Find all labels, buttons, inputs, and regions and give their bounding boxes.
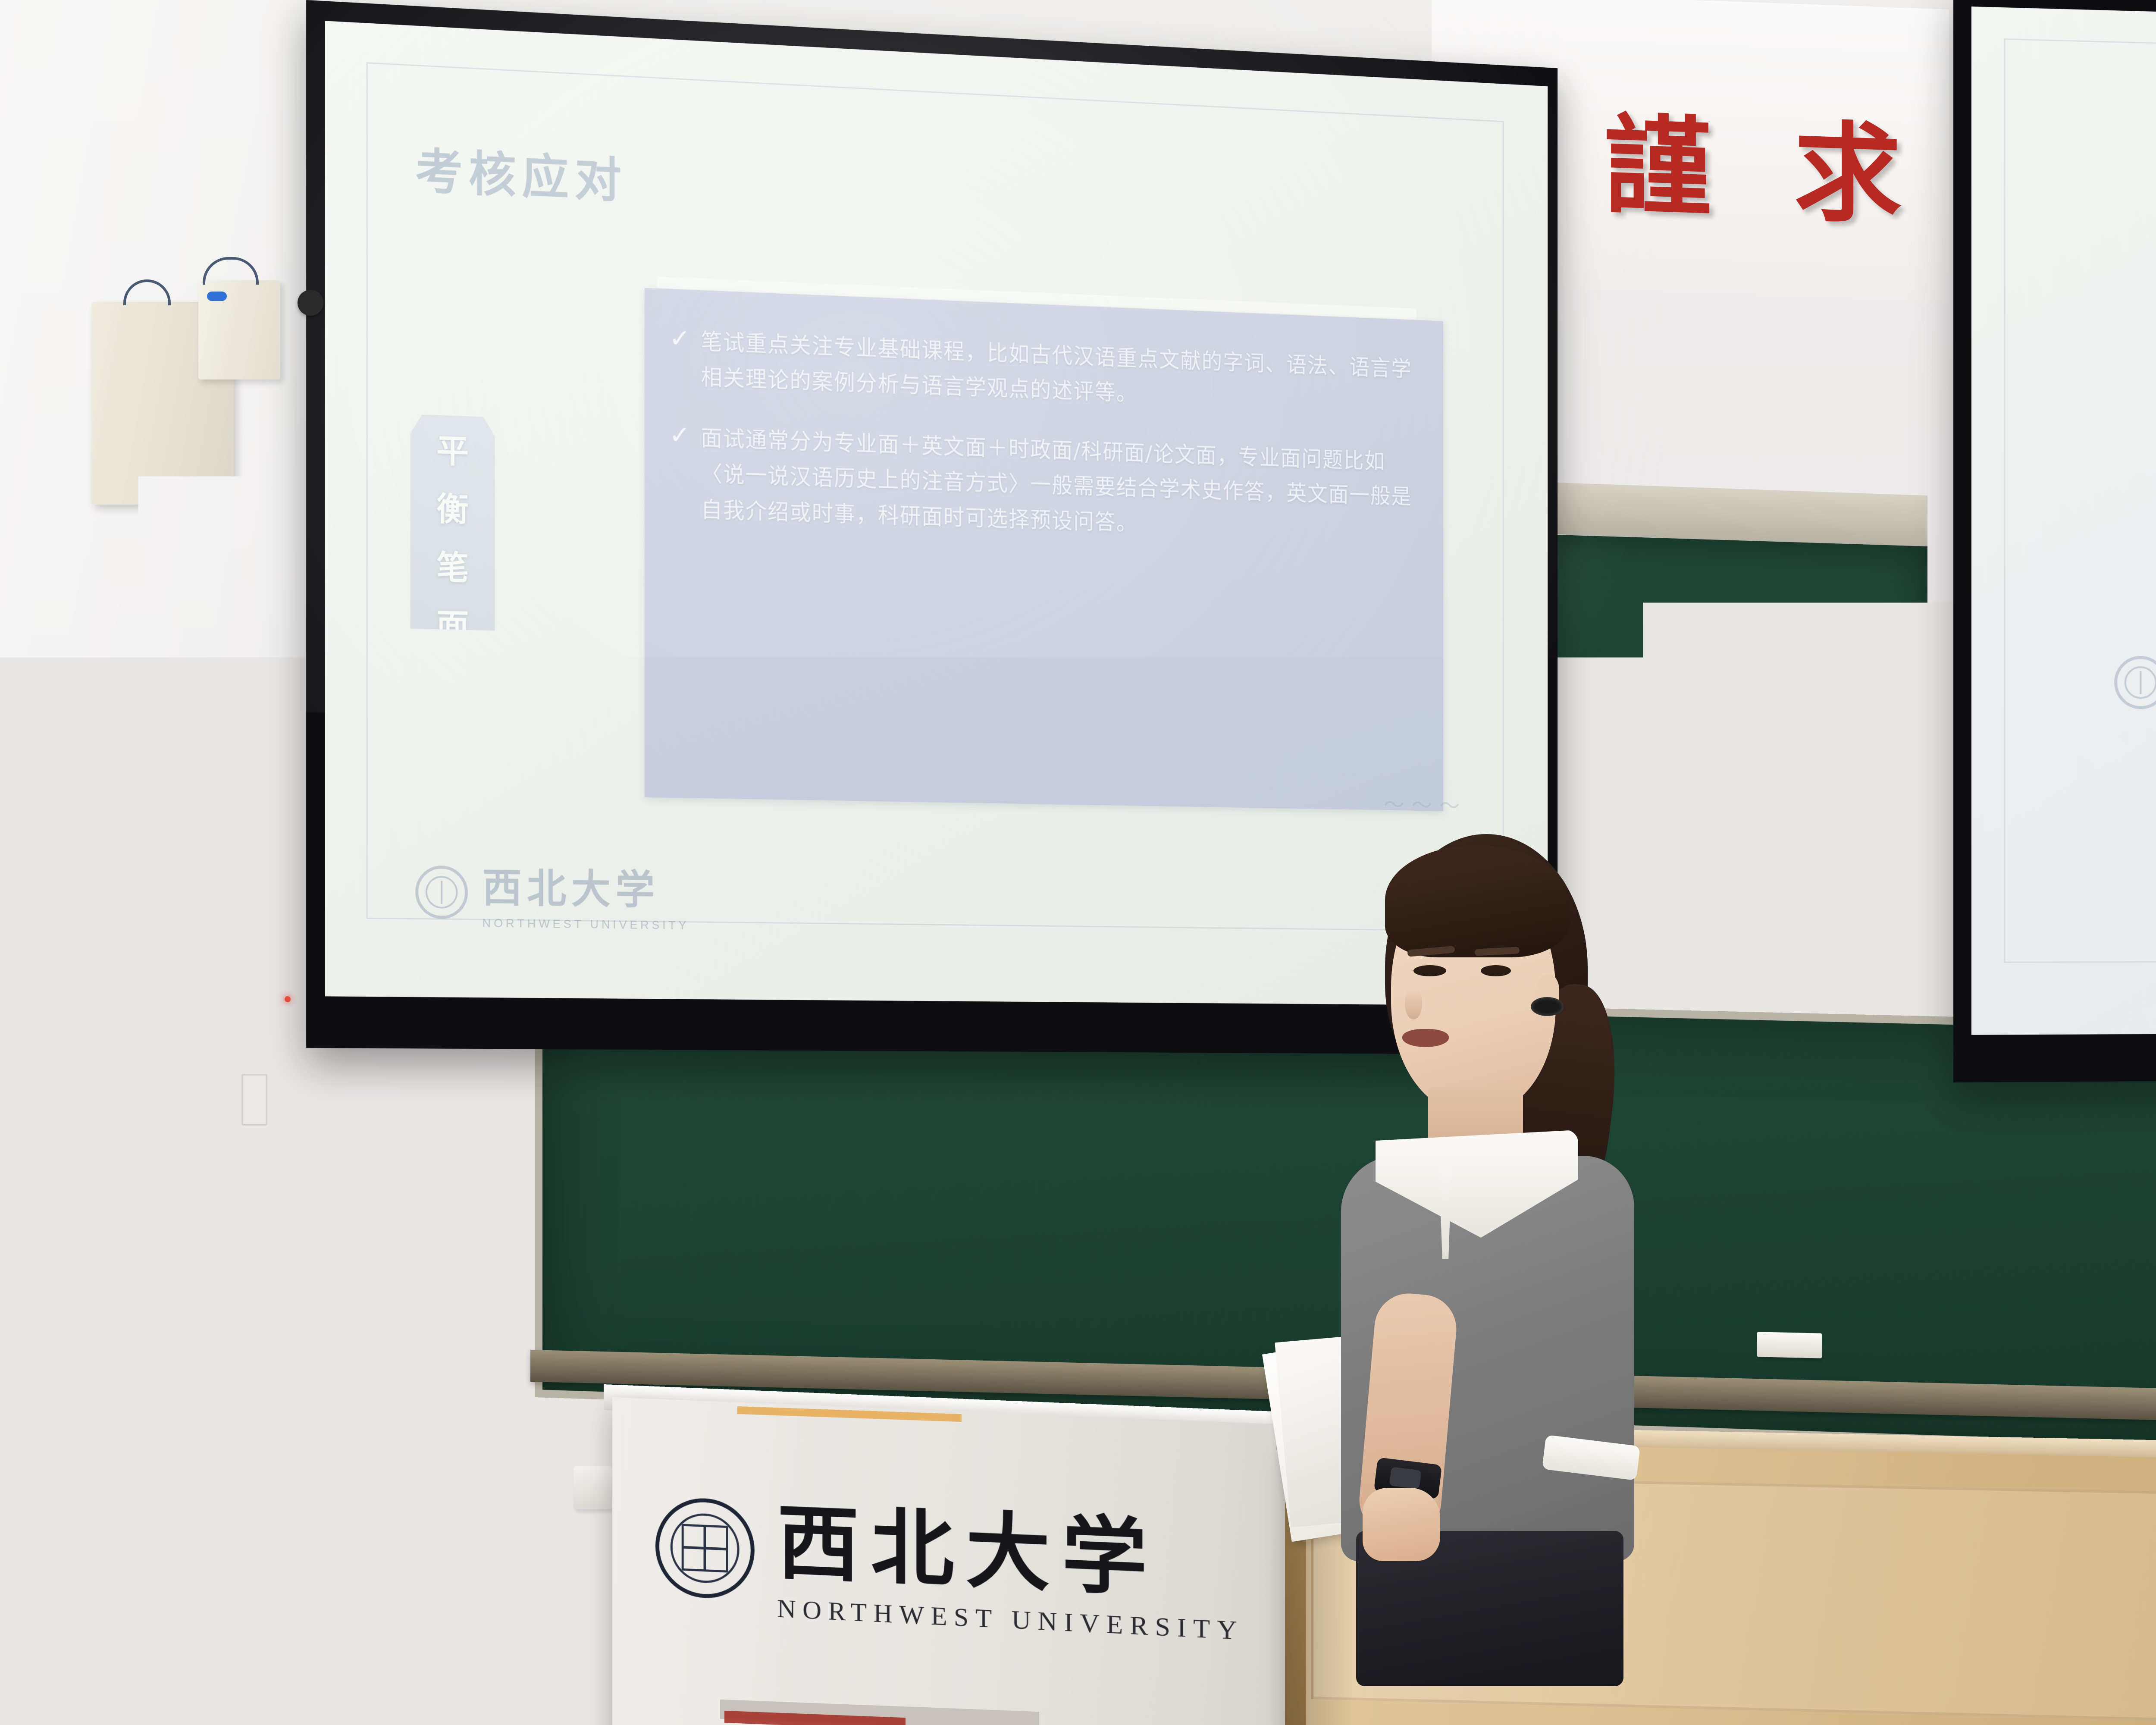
indicator-led-icon [285,996,291,1002]
hair-tie [1531,997,1564,1016]
motto-char-3: 求 [1794,118,1902,229]
status-led-icon [207,292,227,301]
slide-bullet-text: 面试通常分为专业面＋英文面＋时政面/科研面/论文面，专业面问题比如〈说一说汉语历… [701,420,1416,549]
power-outlet[interactable] [241,1074,267,1126]
baseboard [0,1626,604,1643]
slide-bullet: ✓ 笔试重点关注专业基础课程，比如古代汉语重点文献的字词、语法、语言学相关理论的… [669,323,1416,421]
lecture-hall-scene: 亜 謹 求 考核应对 平 衡 笔 面 ✓ 笔试重点关注专业基础课程，比如古代汉语… [0,0,2156,1725]
slide-bullet: ✓ 面试通常分为专业面＋英文面＋时政面/科研面/论文面，专业面问题比如〈说一说汉… [669,420,1416,549]
projection-screen-right: 平 衡 笔 面 西北大学 NORTHWEST UNIVERSITY [1971,6,2156,1035]
seal-cross-horizontal [682,1546,728,1551]
slide-university-logo: 西北大学 NORTHWEST UNIVERSITY [415,854,689,932]
eye-right [1481,965,1511,976]
university-seal-icon [655,1496,755,1600]
university-seal-icon [415,865,468,919]
eye-left [1413,965,1446,976]
slide-content-card: ✓ 笔试重点关注专业基础课程，比如古代汉语重点文献的字词、语法、语言学相关理论的… [644,288,1443,811]
seal-cross-vertical [704,1525,706,1572]
projection-screen-right-frame: 平 衡 笔 面 西北大学 NORTHWEST UNIVERSITY [1953,0,2156,1082]
light-switch-plate-2[interactable] [573,1466,612,1509]
slide-side-ribbon: 平 衡 笔 面 [410,414,495,630]
slide-logo-en: NORTHWEST UNIVERSITY [482,916,689,932]
presenter [1233,828,1639,1561]
hair-fringe [1385,845,1570,957]
slide-university-logo-right: 西北大学 NORTHWEST UNIVERSITY [2114,645,2156,721]
wall-access-panel[interactable] [0,897,91,1005]
nose [1405,988,1422,1019]
ribbon-char-2: 衡 [436,482,469,530]
slide-title: 考核应对 [415,132,627,211]
motto-char-2: 謹 [1604,111,1712,223]
university-seal-icon [2114,656,2156,709]
mouth [1402,1029,1449,1047]
chalk-eraser[interactable] [1757,1332,1822,1358]
slide-logo-cn: 西北大学 [482,855,689,916]
slide-bullet-text: 笔试重点关注专业基础课程，比如古代汉语重点文献的字词、语法、语言学相关理论的案例… [701,324,1416,421]
slide-inner-border-right [2004,38,2156,963]
light-switch-plate-1[interactable] [474,1479,526,1527]
floor-tile [142,1660,392,1725]
hand [1363,1488,1440,1561]
ribbon-char-3: 笔 [436,540,469,588]
ribbon-char-1: 平 [436,424,469,472]
bird-decor-icon: 〜〜〜 [1384,787,1467,820]
check-icon: ✓ [669,325,690,395]
wall-control-panel[interactable] [198,280,280,379]
ir-sensor-icon [298,290,323,316]
check-icon: ✓ [669,422,690,527]
